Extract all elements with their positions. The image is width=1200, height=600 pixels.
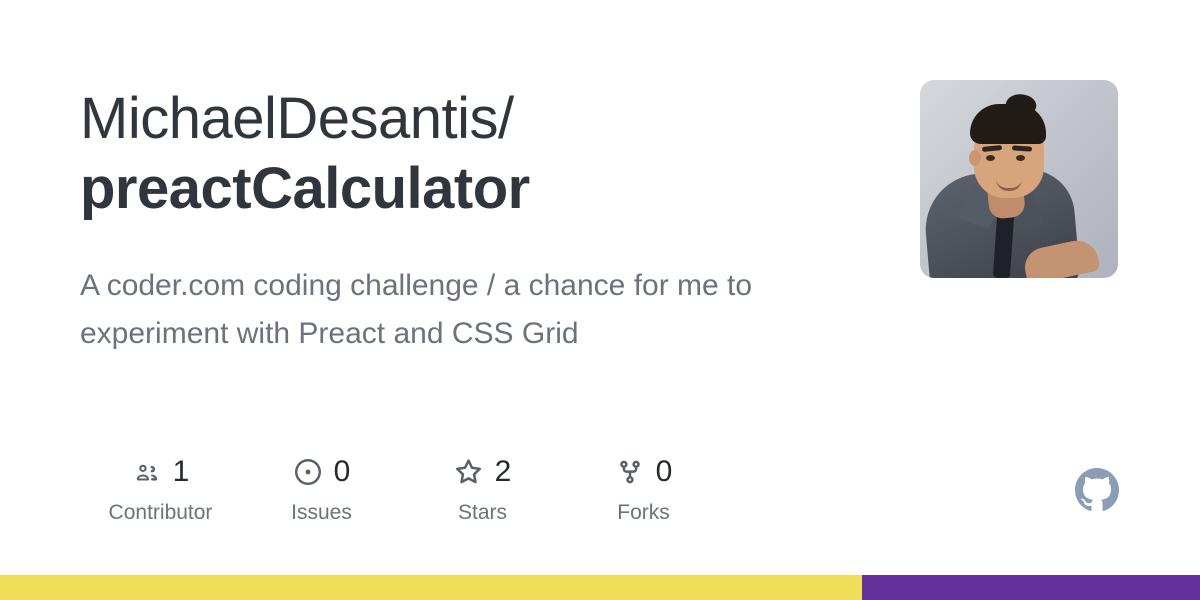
stat-contributors: 1 Contributor	[80, 452, 241, 525]
avatar	[920, 80, 1118, 278]
github-mark-icon	[1075, 468, 1119, 512]
star-icon	[454, 457, 484, 487]
accent-bar-left	[0, 575, 862, 600]
repository-description: A coder.com coding challenge / a chance …	[80, 262, 860, 358]
stat-issues-top: 0	[293, 452, 351, 492]
accent-bar-right	[862, 575, 1200, 600]
stat-contributors-value: 1	[173, 457, 190, 487]
stat-forks-label: Forks	[617, 501, 670, 525]
stat-issues-value: 0	[334, 457, 351, 487]
repository-stats: 1 Contributor 0 Issues	[80, 452, 724, 525]
stat-issues: 0 Issues	[241, 452, 402, 525]
stat-forks-top: 0	[615, 452, 673, 492]
accent-bar	[0, 575, 1200, 600]
repository-owner: MichaelDesantis/	[80, 84, 870, 154]
stat-stars-value: 2	[495, 457, 512, 487]
stat-stars-label: Stars	[458, 501, 507, 525]
avatar-photo	[920, 80, 1118, 278]
stat-issues-label: Issues	[291, 501, 352, 525]
issue-opened-icon	[293, 457, 323, 487]
stat-forks: 0 Forks	[563, 452, 724, 525]
repository-name: preactCalculator	[80, 154, 870, 224]
stat-contributors-top: 1	[132, 452, 190, 492]
stat-stars-top: 2	[454, 452, 512, 492]
stat-contributors-label: Contributor	[109, 501, 213, 525]
repository-heading: MichaelDesantis/ preactCalculator	[80, 84, 870, 224]
people-icon	[132, 457, 162, 487]
repository-social-card: MichaelDesantis/ preactCalculator A code…	[0, 0, 1200, 600]
page-title: MichaelDesantis/ preactCalculator	[80, 84, 870, 224]
stat-forks-value: 0	[656, 457, 673, 487]
repo-forked-icon	[615, 457, 645, 487]
stat-stars: 2 Stars	[402, 452, 563, 525]
